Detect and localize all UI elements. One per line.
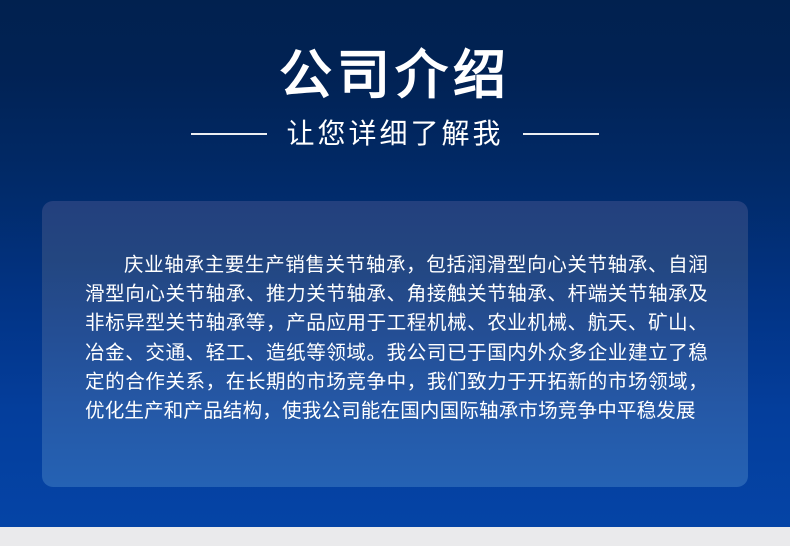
page-subtitle: 让您详细了解我 xyxy=(286,117,503,151)
content-panel: 庆业轴承主要生产销售关节轴承，包括润滑型向心关节轴承、自润滑型向心关节轴承、推力… xyxy=(42,201,748,487)
heading-block: 公司介绍 让您详细了解我 xyxy=(0,46,790,151)
subtitle-row: 让您详细了解我 xyxy=(0,117,790,151)
right-rule-divider xyxy=(523,133,599,135)
company-description-text: 庆业轴承主要生产销售关节轴承，包括润滑型向心关节轴承、自润滑型向心关节轴承、推力… xyxy=(85,251,708,426)
footer-strip xyxy=(0,527,790,546)
company-introduction-banner: 公司介绍 让您详细了解我 庆业轴承主要生产销售关节轴承，包括润滑型向心关节轴承、… xyxy=(0,0,790,546)
left-rule-divider xyxy=(191,133,267,135)
page-title: 公司介绍 xyxy=(0,46,790,106)
